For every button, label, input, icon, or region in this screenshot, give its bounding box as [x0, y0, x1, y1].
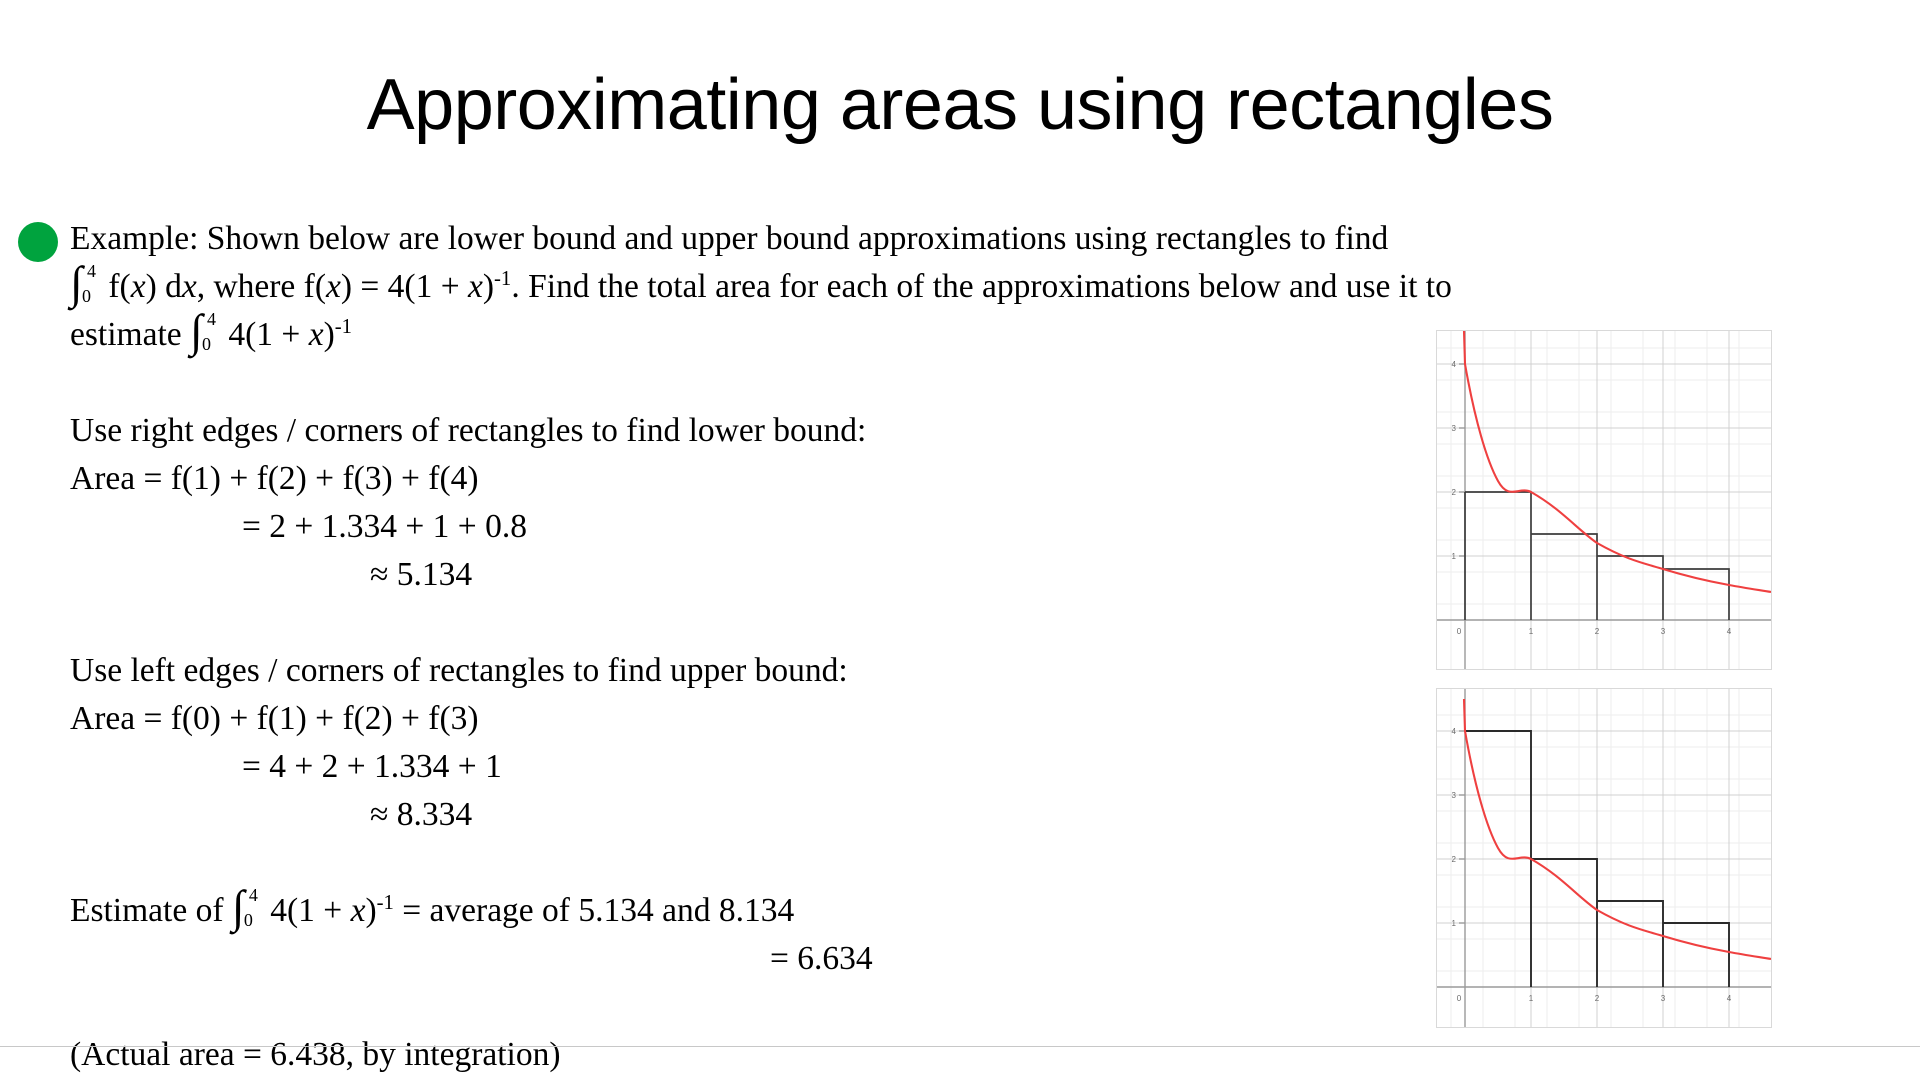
svg-text:0: 0 — [1457, 994, 1462, 1003]
svg-text:4: 4 — [1727, 994, 1732, 1003]
integral-lower-limit: 0 — [82, 287, 91, 305]
y-tick-marks — [1459, 364, 1465, 556]
var-x-3: x — [326, 268, 341, 305]
estimate-label: Estimate of — [70, 892, 224, 929]
major-gridlines — [1437, 331, 1771, 669]
integral-upper-limit: 4 — [249, 886, 258, 904]
integral-upper-limit: 4 — [87, 262, 96, 280]
integral-lower-limit: 0 — [244, 911, 253, 929]
minor-gridlines — [1437, 331, 1771, 669]
estimate-expr-c: = average of 5.134 and 8.134 — [394, 892, 794, 929]
axes — [1437, 331, 1771, 669]
upper-bound-sum-text: = 4 + 2 + 1.334 + 1 — [242, 748, 502, 785]
minor-gridlines — [1437, 689, 1771, 1027]
page-title: Approximating areas using rectangles — [0, 62, 1920, 148]
footer-divider — [0, 1046, 1920, 1047]
integral-symbol-3: ∫ 4 0 — [232, 898, 262, 932]
svg-text:1: 1 — [1452, 552, 1457, 561]
var-x-6: x — [351, 892, 366, 929]
y-tick-labels: 43 21 — [1452, 360, 1457, 561]
svg-text:3: 3 — [1452, 791, 1457, 800]
example-line-1: Example: Shown below are lower bound and… — [70, 220, 1388, 257]
chart-upper-bound: 43 21 01 23 4 — [1436, 688, 1772, 1028]
upper-bound-total-text: ≈ 8.334 — [370, 796, 472, 833]
var-x-2: x — [182, 268, 197, 305]
function-curve — [1464, 331, 1771, 592]
var-x-1: x — [131, 268, 146, 305]
var-x-5: x — [309, 316, 324, 353]
svg-text:1: 1 — [1452, 919, 1457, 928]
svg-text:2: 2 — [1452, 488, 1457, 497]
svg-text:4: 4 — [1452, 727, 1457, 736]
estimate-prefix: estimate — [70, 316, 182, 353]
example-line-2d: ) = 4(1 + — [341, 268, 468, 305]
major-gridlines — [1437, 689, 1771, 1027]
example-line-2f: . Find the total area for each of the ap… — [511, 268, 1452, 305]
chart-lower-bound-svg: 43 21 01 23 4 — [1437, 331, 1771, 669]
x-tick-labels: 01 23 4 — [1457, 994, 1732, 1003]
example-line-2e: ) — [483, 268, 494, 305]
integral-symbol-1: ∫ 4 0 — [70, 274, 100, 308]
svg-text:3: 3 — [1661, 994, 1666, 1003]
exponent-1: -1 — [494, 267, 511, 290]
svg-text:1: 1 — [1529, 994, 1534, 1003]
svg-text:2: 2 — [1595, 627, 1600, 636]
example-line-2b: ) d — [146, 268, 182, 305]
function-curve — [1464, 699, 1771, 959]
exponent-3: -1 — [377, 891, 394, 914]
example-line-2a: f( — [108, 268, 130, 305]
lower-bound-sum-text: = 2 + 1.334 + 1 + 0.8 — [242, 508, 527, 545]
svg-text:3: 3 — [1452, 424, 1457, 433]
integral-symbol-2: ∫ 4 0 — [190, 322, 220, 356]
x-tick-labels: 01 23 4 — [1457, 627, 1732, 636]
svg-text:4: 4 — [1727, 627, 1732, 636]
bullet-point-marker — [18, 222, 58, 262]
slide-canvas: Approximating areas using rectangles Exa… — [0, 0, 1920, 1080]
chart-upper-bound-svg: 43 21 01 23 4 — [1437, 689, 1771, 1027]
integral-glyph: ∫ — [232, 884, 245, 930]
example-line-3b: ) — [324, 316, 335, 353]
svg-text:0: 0 — [1457, 627, 1462, 636]
estimate-expr-a: 4(1 + — [270, 892, 350, 929]
example-line-3a: 4(1 + — [228, 316, 308, 353]
estimate-result-text: = 6.634 — [770, 940, 873, 977]
actual-area-line: (Actual area = 6.438, by integration) — [70, 1031, 1870, 1079]
svg-text:2: 2 — [1595, 994, 1600, 1003]
integral-glyph: ∫ — [190, 308, 203, 354]
y-tick-marks — [1459, 731, 1465, 923]
svg-text:1: 1 — [1529, 627, 1534, 636]
integral-glyph: ∫ — [70, 260, 83, 306]
axes — [1437, 689, 1771, 1027]
estimate-expr-b: ) — [365, 892, 376, 929]
integral-lower-limit: 0 — [202, 335, 211, 353]
chart-lower-bound: 43 21 01 23 4 — [1436, 330, 1772, 670]
y-tick-labels: 43 21 — [1452, 727, 1457, 928]
integral-upper-limit: 4 — [207, 310, 216, 328]
var-x-4: x — [468, 268, 483, 305]
lower-bound-total-text: ≈ 5.134 — [370, 556, 472, 593]
svg-text:2: 2 — [1452, 855, 1457, 864]
svg-text:3: 3 — [1661, 627, 1666, 636]
exponent-2: -1 — [335, 315, 352, 338]
svg-text:4: 4 — [1452, 360, 1457, 369]
example-line-2c: , where f( — [197, 268, 326, 305]
